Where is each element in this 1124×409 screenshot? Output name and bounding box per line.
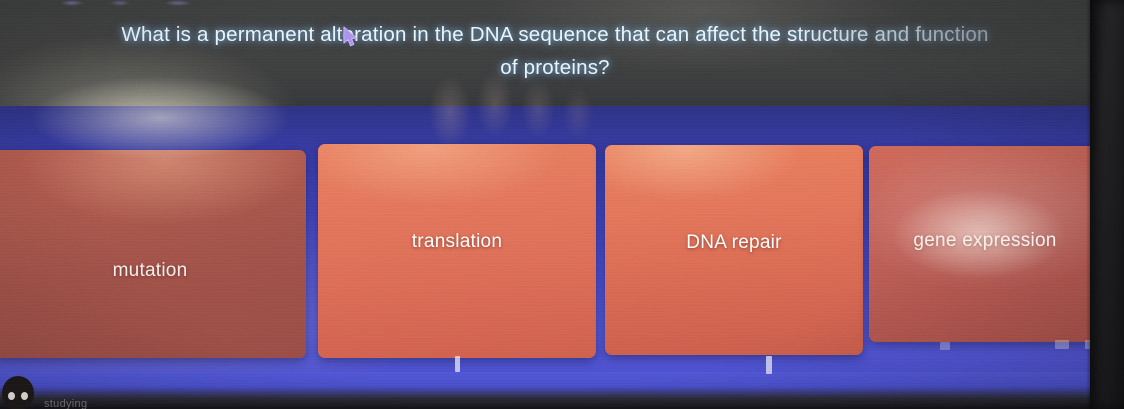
- answer-option-label: DNA repair: [686, 232, 781, 254]
- ui-sliver: [940, 342, 950, 350]
- ui-sliver: [1055, 340, 1069, 349]
- quiz-screen: What is a permanent alteration in the DN…: [0, 0, 1124, 409]
- answer-options-grid: mutation translation DNA repair gene exp…: [0, 0, 1124, 409]
- answer-option-label: mutation: [113, 260, 188, 282]
- monitor-bezel-right: [1090, 0, 1124, 409]
- answer-option-label: gene expression: [913, 230, 1056, 252]
- answer-option-translation[interactable]: translation: [318, 144, 596, 358]
- answer-option-mutation[interactable]: mutation: [0, 150, 306, 358]
- ui-sliver: [766, 356, 772, 374]
- user-avatar-icon[interactable]: [0, 372, 38, 409]
- avatar-label: studying: [44, 398, 164, 409]
- ui-sliver: [455, 356, 460, 372]
- answer-option-gene-expression[interactable]: gene expression: [869, 146, 1101, 342]
- avatar-head-shape: [2, 376, 34, 409]
- avatar-eye-right: [21, 392, 28, 400]
- answer-option-dna-repair[interactable]: DNA repair: [605, 145, 863, 355]
- avatar-eye-left: [8, 392, 15, 400]
- answer-option-label: translation: [412, 231, 502, 253]
